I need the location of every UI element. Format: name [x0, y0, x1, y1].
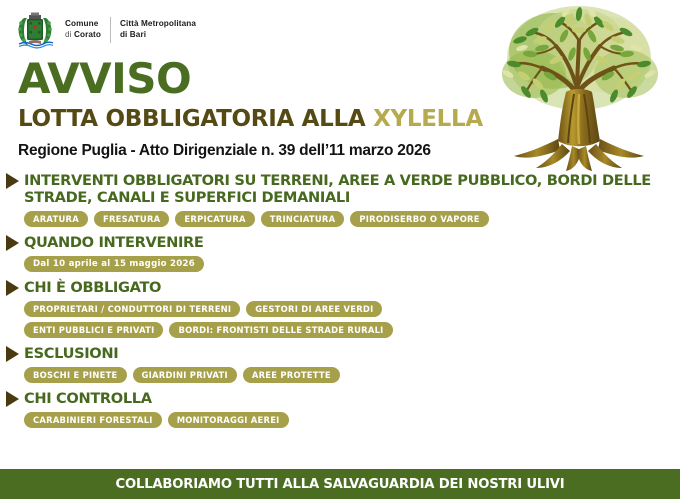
section-interventi: INTERVENTI OBBLIGATORI SU TERRENI, AREE …: [6, 172, 672, 227]
metro-line1: Città Metropolitana: [120, 19, 196, 30]
triangle-right-icon: [6, 280, 19, 296]
section-title: ESCLUSIONI: [24, 345, 118, 362]
section-chi-controlla: CHI CONTROLLA CARABINIERI FORESTALI MONI…: [6, 390, 672, 428]
triangle-right-icon: [6, 346, 19, 362]
act-reference-line: Regione Puglia - Atto Dirigenziale n. 39…: [18, 143, 483, 159]
section-header: ESCLUSIONI: [6, 345, 672, 362]
section-esclusioni: ESCLUSIONI BOSCHI E PINETE GIARDINI PRIV…: [6, 345, 672, 383]
badge: PROPRIETARI / CONDUTTORI DI TERRENI: [24, 301, 240, 317]
section-badges: ARATURA FRESATURA ERPICATURA TRINCIATURA…: [24, 211, 524, 227]
corato-coat-of-arms-icon: [14, 10, 56, 50]
badge: ARATURA: [24, 211, 88, 227]
section-chi-e-obbligato: CHI È OBBLIGATO PROPRIETARI / CONDUTTORI…: [6, 279, 672, 338]
section-badges: CARABINIERI FORESTALI MONITORAGGI AEREI: [24, 412, 524, 428]
page-title: AVVISO: [18, 58, 483, 100]
section-title: CHI È OBBLIGATO: [24, 279, 161, 296]
institutional-logo-bar: Comune di Corato Città Metropolitana di …: [14, 10, 196, 50]
subtitle-highlight-xylella: XYLELLA: [373, 106, 483, 132]
badge: GIARDINI PRIVATI: [133, 367, 237, 383]
comune-line1: Comune: [65, 19, 101, 30]
logo-divider: [110, 17, 111, 43]
section-header: CHI CONTROLLA: [6, 390, 672, 407]
badge: BOSCHI E PINETE: [24, 367, 127, 383]
triangle-right-icon: [6, 173, 19, 189]
hero-title-block: AVVISO LOTTA OBBLIGATORIA ALLA XYLELLA R…: [18, 58, 483, 159]
badge: GESTORI DI AREE VERDI: [246, 301, 382, 317]
badge: PIRODISERBO O VAPORE: [350, 211, 488, 227]
badge: FRESATURA: [94, 211, 169, 227]
section-header: QUANDO INTERVENIRE: [6, 234, 672, 251]
subtitle-main: LOTTA OBBLIGATORIA ALLA: [18, 106, 373, 132]
section-title: CHI CONTROLLA: [24, 390, 152, 407]
section-quando-intervenire: QUANDO INTERVENIRE Dal 10 aprile al 15 m…: [6, 234, 672, 272]
badge: TRINCIATURA: [261, 211, 345, 227]
section-title: QUANDO INTERVENIRE: [24, 234, 204, 251]
badge: MONITORAGGI AEREI: [168, 412, 289, 428]
badge: BORDI: FRONTISTI DELLE STRADE RURALI: [169, 322, 392, 338]
section-badges: BOSCHI E PINETE GIARDINI PRIVATI AREE PR…: [24, 367, 524, 383]
comune-line2-thin: di: [65, 30, 74, 39]
section-header: INTERVENTI OBBLIGATORI SU TERRENI, AREE …: [6, 172, 672, 206]
badge: ENTI PUBBLICI E PRIVATI: [24, 322, 163, 338]
badge: ERPICATURA: [175, 211, 254, 227]
badge: Dal 10 aprile al 15 maggio 2026: [24, 256, 204, 272]
metro-label: Città Metropolitana di Bari: [120, 19, 196, 41]
section-badges: PROPRIETARI / CONDUTTORI DI TERRENI GEST…: [24, 301, 524, 338]
section-header: CHI È OBBLIGATO: [6, 279, 672, 296]
metro-line2: di Bari: [120, 30, 196, 41]
badge: CARABINIERI FORESTALI: [24, 412, 162, 428]
olive-tree-illustration: [484, 0, 674, 178]
comune-line2-bold: Corato: [74, 30, 101, 39]
footer-banner: COLLABORIAMO TUTTI ALLA SALVAGUARDIA DEI…: [0, 469, 680, 499]
sections-list: INTERVENTI OBBLIGATORI SU TERRENI, AREE …: [6, 172, 672, 435]
page-subtitle: LOTTA OBBLIGATORIA ALLA XYLELLA: [18, 108, 483, 131]
triangle-right-icon: [6, 391, 19, 407]
section-badges: Dal 10 aprile al 15 maggio 2026: [24, 256, 524, 272]
footer-slogan: COLLABORIAMO TUTTI ALLA SALVAGUARDIA DEI…: [116, 477, 565, 492]
section-title: INTERVENTI OBBLIGATORI SU TERRENI, AREE …: [24, 172, 672, 206]
badge: AREE PROTETTE: [243, 367, 340, 383]
triangle-right-icon: [6, 235, 19, 251]
comune-label: Comune di Corato: [65, 19, 101, 41]
